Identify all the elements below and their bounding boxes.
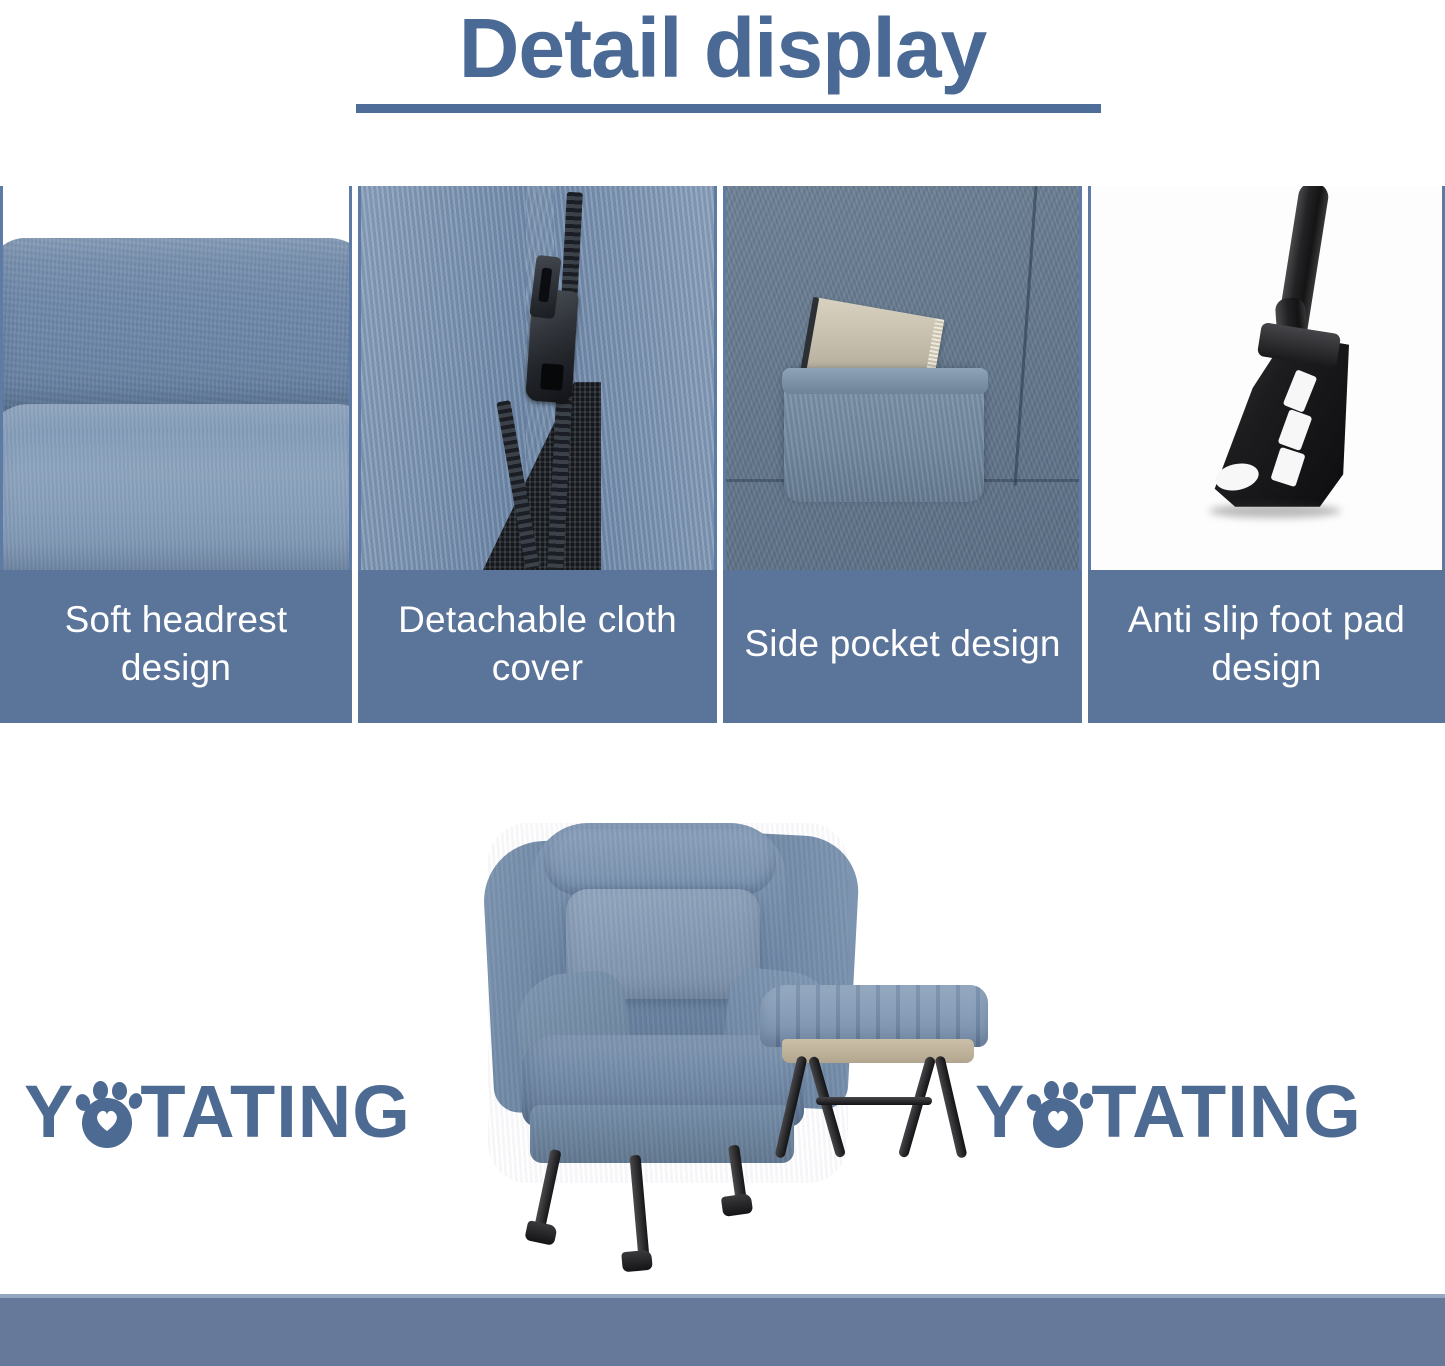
brand-logo-text: TATING [140,1075,410,1149]
product-ottoman-image [760,985,988,1165]
detail-panel-caption: Side pocket design [723,570,1082,723]
detail-panel-anti-slip-foot[interactable]: Anti slip foot pad design [1088,186,1445,723]
headrest-closeup-photo [0,186,352,570]
paw-print-icon [1027,1076,1089,1148]
brand-logo-text: TATING [1091,1075,1361,1149]
detail-panel-strip: Soft headrest design Detachable cloth co… [0,186,1445,723]
brand-logo-left: Y TATING [24,1075,411,1149]
zipper-closeup-photo [358,186,717,570]
brand-logo-prefix: Y [24,1075,74,1149]
brand-logo-right: Y TATING [975,1075,1362,1149]
side-pocket-closeup-photo [723,186,1082,570]
foot-pad-closeup-photo [1088,186,1445,570]
page-title: Detail display [0,6,1445,92]
paw-print-icon [76,1076,138,1148]
detail-panel-detachable-cover[interactable]: Detachable cloth cover [358,186,717,723]
brand-logo-prefix: Y [975,1075,1025,1149]
hero-product-area: Y TATING Y TATING [0,723,1445,1303]
heart-icon [94,1108,120,1132]
detail-panel-soft-headrest[interactable]: Soft headrest design [0,186,352,723]
detail-display-page: Detail display Soft headrest design [0,0,1445,1366]
title-underline-rule [356,104,1101,113]
page-title-block: Detail display [0,6,1445,92]
heart-icon [1045,1108,1071,1132]
bottom-color-bar [0,1294,1445,1366]
detail-panel-side-pocket[interactable]: Side pocket design [723,186,1082,723]
detail-panel-caption: Soft headrest design [0,570,352,723]
detail-panel-caption: Anti slip foot pad design [1088,570,1445,723]
detail-panel-caption: Detachable cloth cover [358,570,717,723]
